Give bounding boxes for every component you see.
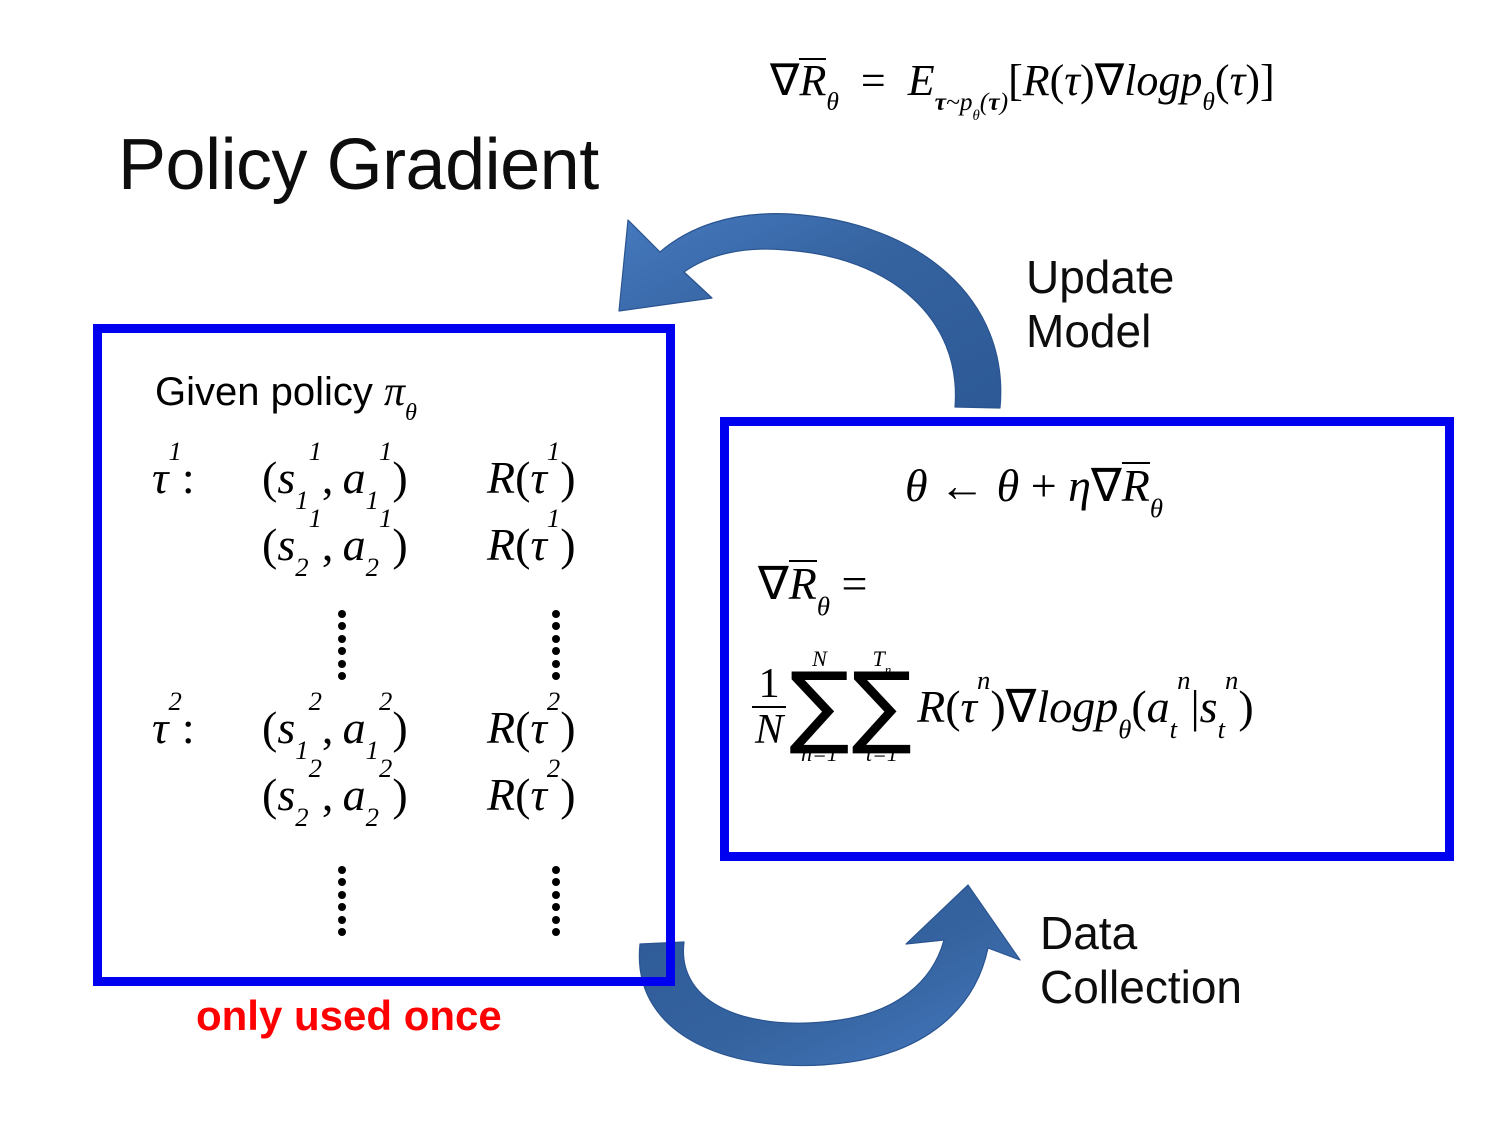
policy-pi-symbol: πθ (384, 369, 417, 415)
vertical-ellipsis-pairs-lower (336, 866, 348, 936)
slide-canvas: ∇Rθ = Eτ~pθ(τ)[R(τ)∇logpθ(τ)] Policy Gra… (0, 0, 1500, 1125)
state-action-pair-1-1: (s11, a11) (262, 455, 408, 501)
reward-2-1: R(τ2) (487, 705, 576, 751)
gradient-summand: R(τn)∇logpθ(atn|stn) (917, 684, 1254, 730)
one-over-n-fraction: 1 N (752, 662, 786, 750)
state-action-pair-2-2: (s22, a22) (262, 772, 408, 818)
page-title: Policy Gradient (118, 124, 599, 206)
update-model-arrow (619, 214, 1001, 408)
reward-1-1: R(τ1) (487, 455, 576, 501)
reward-1-2: R(τ1) (487, 522, 576, 568)
data-collection-arrow (639, 885, 1020, 1066)
vertical-ellipsis-rewards-lower (550, 866, 562, 936)
gradient-rhs-expression: 1 N N ∑ n=1 Tn ∑ t=1 R(τn)∇logpθ(atn|stn… (752, 648, 1254, 765)
data-collection-caption: Data Collection (1040, 906, 1242, 1015)
state-action-pair-2-1: (s12, a12) (262, 705, 408, 751)
gradient-lhs: ∇Rθ = (758, 560, 867, 607)
sum-over-t: Tn ∑ t=1 (852, 648, 912, 765)
given-policy-label: Given policy πθ (155, 370, 417, 415)
objective-gradient-formula: ∇Rθ = Eτ~pθ(τ)[R(τ)∇logpθ(τ)] (770, 58, 1275, 107)
state-action-pair-1-2: (s21, a21) (262, 522, 408, 568)
trajectory-1-label: τ1: (152, 455, 195, 501)
sum-over-n: N ∑ n=1 (789, 648, 849, 765)
only-used-once-caption: only used once (196, 992, 502, 1040)
update-model-caption: Update Model (1026, 250, 1174, 359)
trajectory-data-box (93, 324, 675, 986)
given-policy-text: Given policy (155, 370, 373, 414)
reward-2-2: R(τ2) (487, 772, 576, 818)
trajectory-2-label: τ2: (152, 705, 195, 751)
parameter-update-rule: θ ← θ + η∇Rθ (905, 462, 1163, 509)
vertical-ellipsis-rewards-upper (550, 610, 562, 680)
vertical-ellipsis-pairs-upper (336, 610, 348, 680)
